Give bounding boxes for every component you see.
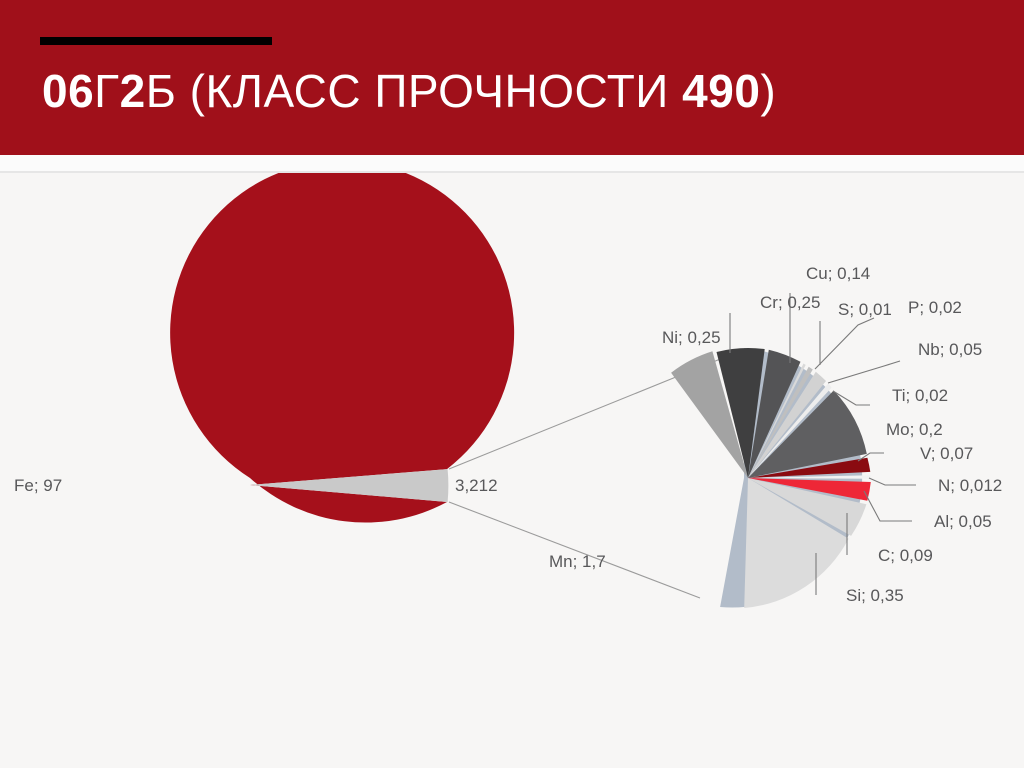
header-separator-band [0, 155, 1024, 172]
label-p: P; 0,02 [908, 298, 962, 317]
title-segment-1: 06 [42, 65, 94, 117]
label-c: C; 0,09 [878, 546, 933, 565]
title-segment-6: ) [760, 65, 776, 117]
pie-of-pie-chart: Fe; 97 3,212 [0, 173, 1024, 768]
page-title: 06Г2Б (КЛАСС ПРОЧНОСТИ 490) [42, 62, 776, 120]
label-si: Si; 0,35 [846, 586, 904, 605]
label-cu: Cu; 0,14 [806, 264, 870, 283]
primary-pie-group [170, 173, 514, 523]
header-accent-rule [40, 37, 272, 45]
label-ni: Ni; 0,25 [662, 328, 721, 347]
label-mo: Mo; 0,2 [886, 420, 943, 439]
label-other-total: 3,212 [455, 476, 498, 495]
slide-header: 06Г2Б (КЛАСС ПРОЧНОСТИ 490) [0, 0, 1024, 155]
title-segment-3: 2 [120, 65, 146, 117]
slide-root: 06Г2Б (КЛАСС ПРОЧНОСТИ 490) Fe; 97 3,212 [0, 0, 1024, 768]
title-segment-2: Г [94, 65, 119, 117]
label-s: S; 0,01 [838, 300, 892, 319]
title-segment-4: Б (КЛАСС ПРОЧНОСТИ [146, 65, 682, 117]
label-cr: Cr; 0,25 [760, 293, 820, 312]
label-al: Al; 0,05 [934, 512, 992, 531]
chart-canvas: Fe; 97 3,212 [0, 173, 1024, 768]
label-ti: Ti; 0,02 [892, 386, 948, 405]
title-segment-5: 490 [682, 65, 760, 117]
label-mn: Mn; 1,7 [549, 552, 606, 571]
label-fe: Fe; 97 [14, 476, 62, 495]
secondary-pie-group [671, 348, 871, 608]
label-n: N; 0,012 [938, 476, 1002, 495]
primary-slice-fe[interactable] [170, 173, 514, 523]
label-nb: Nb; 0,05 [918, 340, 982, 359]
label-v: V; 0,07 [920, 444, 973, 463]
